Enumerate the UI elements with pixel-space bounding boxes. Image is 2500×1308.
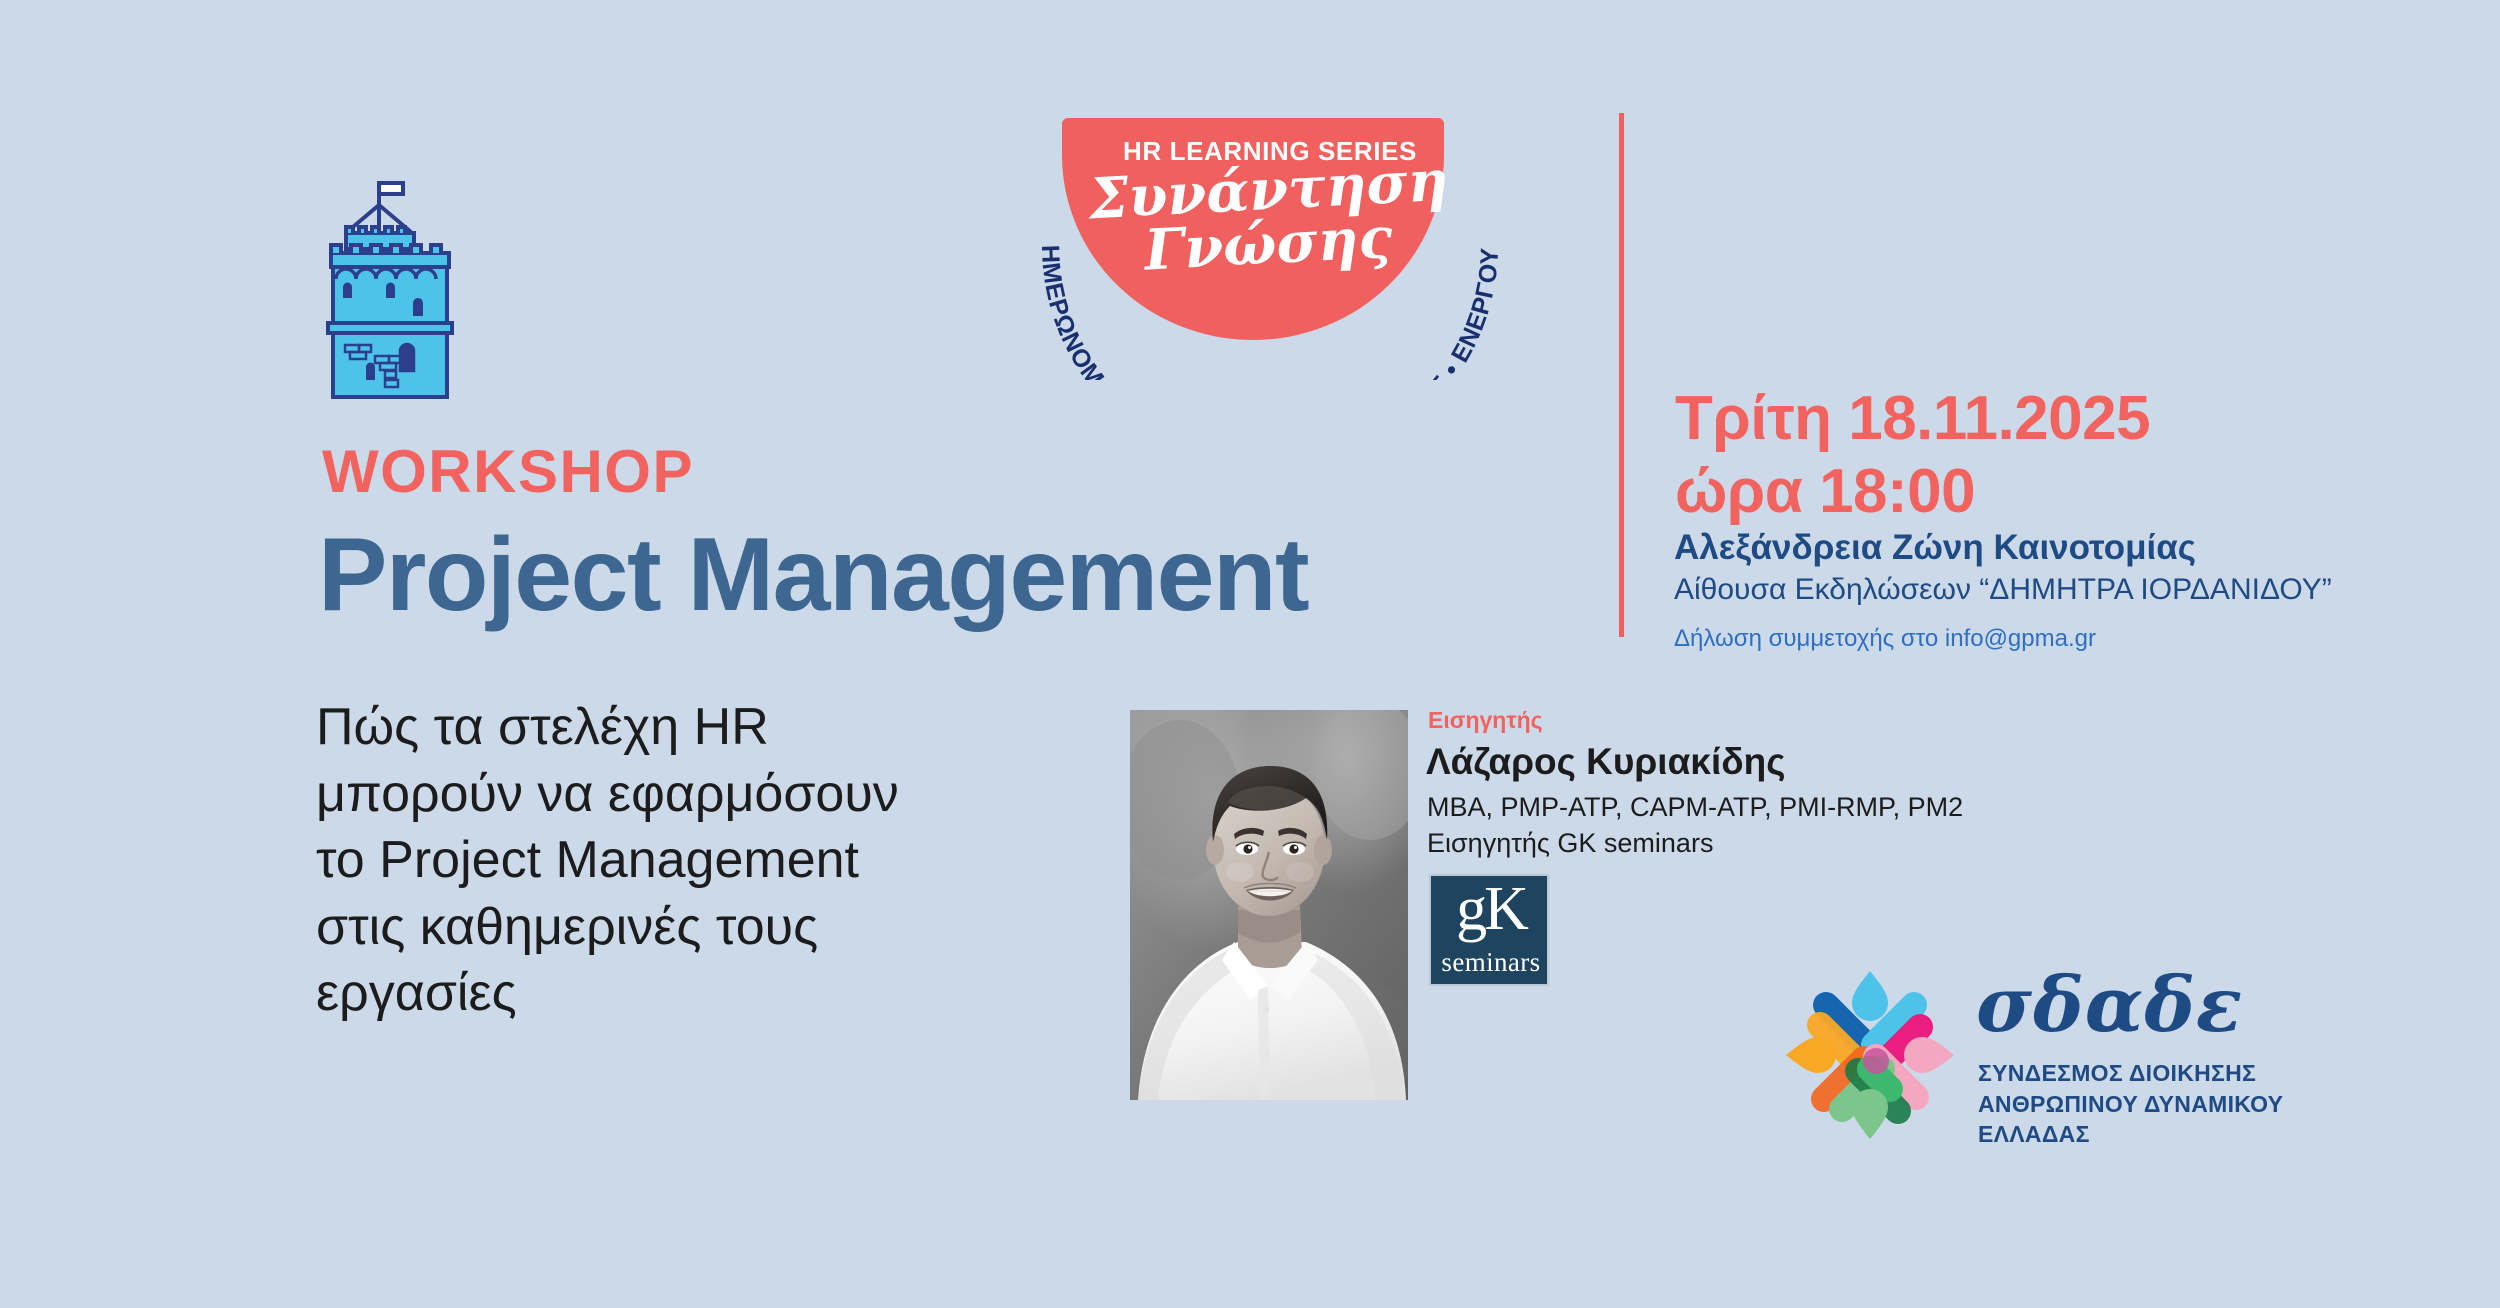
registration-info[interactable]: Δήλωση συμμετοχής στο info@gpma.gr bbox=[1674, 625, 2096, 653]
gk-wordmark: seminars bbox=[1431, 947, 1551, 978]
hr-learning-series-badge: ΕΝΗΜΕΡΩΝΟΜΑΣΤΕ • ΜΙΛΑΜΕ • ΣΚΕΦΤΟΜΑΣΤΕ • … bbox=[1000, 80, 1540, 380]
poster-canvas: ΕΝΗΜΕΡΩΝΟΜΑΣΤΕ • ΜΙΛΑΜΕ • ΣΚΕΦΤΟΜΑΣΤΕ • … bbox=[0, 0, 2500, 1308]
speaker-portrait-photo bbox=[1130, 710, 1408, 1100]
subcopy-line: μπορούν να εφαρμόσουν bbox=[316, 761, 1036, 828]
event-date-line: Τρίτη 18.11.2025 bbox=[1675, 382, 2150, 455]
subcopy-line: το Project Management bbox=[316, 827, 1036, 894]
page-title: Project Management bbox=[318, 516, 1308, 635]
vertical-divider bbox=[1619, 113, 1624, 637]
event-datetime: Τρίτη 18.11.2025 ώρα 18:00 bbox=[1675, 382, 2150, 528]
sdade-subtitle-line: ΣΥΝΔΕΣΜΟΣ ΔΙΟΙΚΗΣΗΣ bbox=[1978, 1058, 2283, 1089]
speaker-role-label: Εισηγητής bbox=[1428, 707, 1543, 734]
sdade-subtitle-line: ΕΛΛΑΔΑΣ bbox=[1978, 1119, 2283, 1150]
sdade-subtitle-line: ΑΝΘΡΩΠΙΝΟΥ ΔΥΝΑΜΙΚΟΥ bbox=[1978, 1089, 2283, 1120]
venue-name: Αλεξάνδρεια Ζώνη Καινοτομίας bbox=[1674, 528, 2196, 568]
sdade-subtitle-block: ΣΥΝΔΕΣΜΟΣ ΔΙΟΙΚΗΣΗΣ ΑΝΘΡΩΠΙΝΟΥ ΔΥΝΑΜΙΚΟΥ… bbox=[1978, 1058, 2283, 1150]
subcopy-line: εργασίες bbox=[316, 960, 1036, 1027]
subcopy-line: στις καθημερινές τους bbox=[316, 894, 1036, 961]
sdade-pinwheel-icon bbox=[1780, 965, 1960, 1145]
event-time-line: ώρα 18:00 bbox=[1675, 455, 2150, 528]
gk-seminars-logo: gK seminars bbox=[1429, 874, 1549, 986]
sdade-wordmark: σδαδε bbox=[1976, 967, 2243, 1043]
gk-monogram: gK bbox=[1431, 878, 1551, 940]
speaker-credentials-block: MBA, PMP-ATP, CAPM-ATP, PMI-RMP, PM2 Εισ… bbox=[1427, 790, 1963, 862]
workshop-kicker: WORKSHOP bbox=[322, 437, 694, 506]
subcopy-line: Πώς τα στελέχη HR bbox=[316, 694, 1036, 761]
speaker-credentials: MBA, PMP-ATP, CAPM-ATP, PMI-RMP, PM2 bbox=[1427, 790, 1963, 826]
sdade-logo: σδαδε ΣΥΝΔΕΣΜΟΣ ΔΙΟΙΚΗΣΗΣ ΑΝΘΡΩΠΙΝΟΥ ΔΥΝ… bbox=[1780, 965, 2250, 1150]
speaker-name: Λάζαρος Κυριακίδης bbox=[1426, 741, 1786, 783]
venue-room: Αίθουσα Εκδηλώσεων “ΔΗΜΗΤΡΑ ΙΟΡΔΑΝΙΔΟΥ” bbox=[1674, 573, 2332, 607]
white-tower-icon bbox=[300, 175, 480, 405]
speaker-affiliation: Εισηγητής GK seminars bbox=[1427, 826, 1963, 862]
subcopy-block: Πώς τα στελέχη HR μπορούν να εφαρμόσουν … bbox=[316, 694, 1036, 1027]
